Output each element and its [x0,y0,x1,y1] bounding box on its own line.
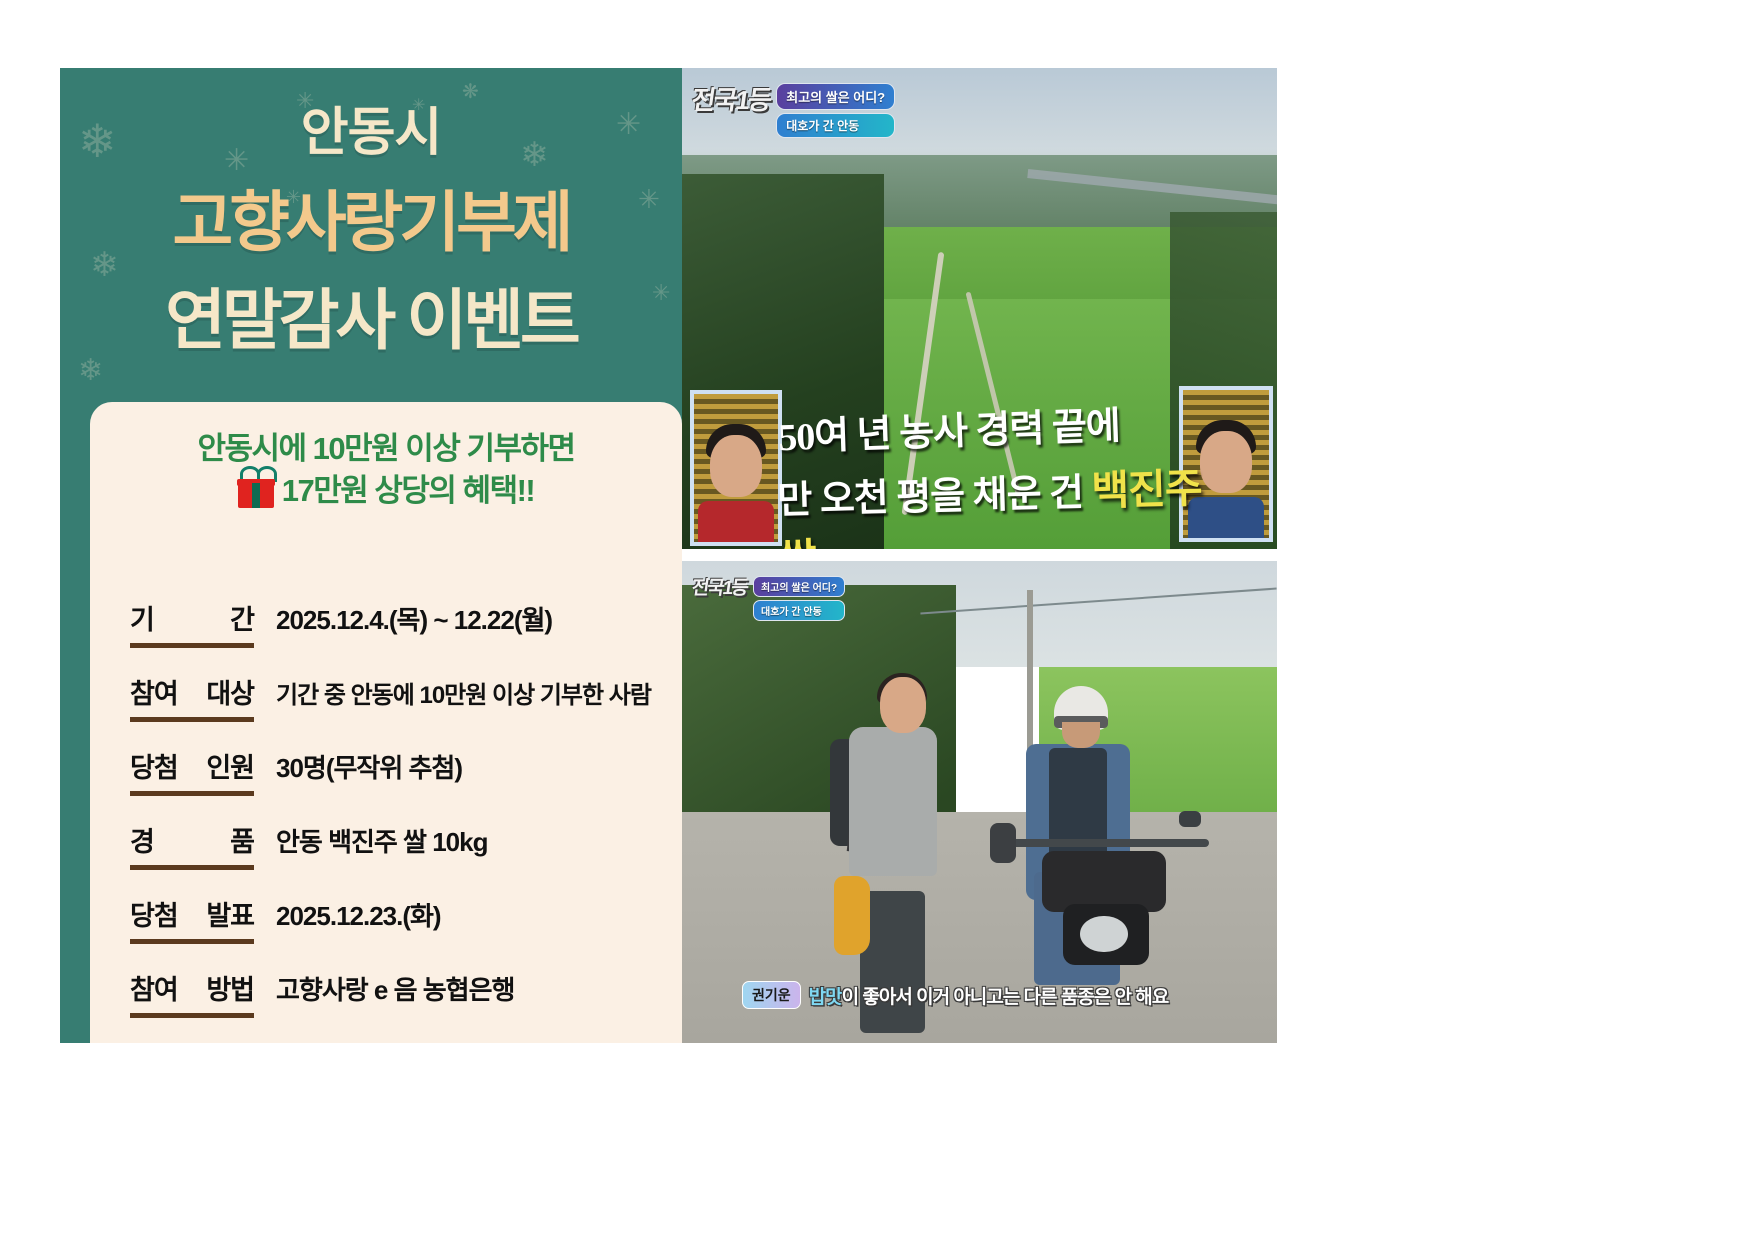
detail-label-part: 발표 [206,894,254,933]
detail-row-howto: 참여 방법 고향사랑 e 음 농협은행 [130,968,650,1014]
caption-line2: 만 오천 평을 채운 건 백진주 쌀 [777,453,1250,549]
show-logo-overlay: 전국1등 최고의 쌀은 어디? 대호가 간 안동 [692,80,895,138]
detail-label: 경 품 [130,820,254,870]
photo-caption-handwritten: 50여 년 농사 경력 끝에 만 오천 평을 채운 건 백진주 쌀 [778,398,1248,549]
detail-label: 기 간 [130,598,254,648]
female-guest-thumbnail [690,390,782,546]
speaker-name-badge: 권기운 [742,981,801,1009]
photo-interview-roadside: 전국1등 최고의 쌀은 어디? 대호가 간 안동 권기운 밥맛이 좋아서 이거 … [682,561,1277,1043]
detail-label: 당첨 발표 [130,894,254,944]
detail-value: 2025.12.23.(화) [276,896,441,933]
poster-detail-rows: 기 간 2025.12.4.(목) ~ 12.22(월) 참여 대상 기간 중 … [130,598,650,1042]
detail-label-part: 대상 [206,672,254,711]
detail-label: 당첨 인원 [130,746,254,796]
detail-row-announcement: 당첨 발표 2025.12.23.(화) [130,894,650,940]
detail-label-part: 간 [230,598,254,637]
detail-label-part: 기 [130,598,154,637]
detail-value: 기간 중 안동에 10만원 이상 기부한 사람 [276,675,651,710]
detail-value: 2025.12.4.(목) ~ 12.22(월) [276,600,552,637]
show-badge-primary: 최고의 쌀은 어디? [753,576,845,597]
gift-icon [238,474,274,508]
poster-title-line1: 안동시 [60,90,682,165]
subtitle-text: 밥맛이 좋아서 이거 아니고는 다른 품종은 안 해요 [809,982,1169,1009]
detail-row-eligibility: 참여 대상 기간 중 안동에 10만원 이상 기부한 사람 [130,672,650,718]
detail-row-winners: 당첨 인원 30명(무작위 추첨) [130,746,650,792]
detail-label-part: 참여 [130,672,178,711]
subtitle-highlight: 밥맛 [809,987,842,1008]
subtitle-rest: 이 좋아서 이거 아니고는 다른 품종은 안 해요 [842,987,1169,1008]
headline-line1: 안동시에 10만원 이상 기부하면 [90,428,682,470]
headline-line2-wrap: 17만원 상당의 혜택!! [90,470,682,512]
photo-subtitle: 권기운 밥맛이 좋아서 이거 아니고는 다른 품종은 안 해요 [742,981,1242,1009]
caption-line2-a: 만 오천 평을 채운 건 [777,472,1092,522]
detail-label-part: 인원 [206,746,254,785]
detail-label-part: 방법 [206,968,254,1007]
poster-title-line3: 연말감사 이벤트 [60,267,682,363]
detail-value: 안동 백진주 쌀 10kg [276,822,487,859]
detail-label-part: 품 [230,820,254,859]
show-badge-secondary: 대호가 간 안동 [776,113,895,138]
detail-row-prize: 경 품 안동 백진주 쌀 10kg [130,820,650,866]
detail-value: 고향사랑 e 음 농협은행 [276,970,514,1007]
detail-label: 참여 대상 [130,672,254,722]
detail-label-part: 경 [130,820,154,859]
detail-label-part: 당첨 [130,746,178,785]
caption-line1: 50여 년 농사 경력 끝에 [777,390,1249,461]
detail-label: 참여 방법 [130,968,254,1018]
show-badge-secondary: 대호가 간 안동 [753,600,845,621]
show-logo-mark: 전국1등 [689,80,772,117]
show-badge-primary: 최고의 쌀은 어디? [776,83,895,110]
show-badges: 최고의 쌀은 어디? 대호가 간 안동 [753,576,845,621]
show-badges: 최고의 쌀은 어디? 대호가 간 안동 [776,83,895,138]
poster-title-line2: 고향사랑기부제 [60,169,682,265]
poster-title: 안동시 고향사랑기부제 연말감사 이벤트 [60,90,682,363]
show-logo-overlay: 전국1등 최고의 쌀은 어디? 대호가 간 안동 [692,573,845,621]
detail-row-period: 기 간 2025.12.4.(목) ~ 12.22(월) [130,598,650,644]
person-host [837,677,956,1034]
detail-value: 30명(무작위 추첨) [276,748,462,785]
show-logo-mark: 전국1등 [690,573,749,600]
detail-label-part: 당첨 [130,894,178,933]
photo-rice-field: 전국1등 최고의 쌀은 어디? 대호가 간 안동 50여 년 농사 경력 끝에 … [682,68,1277,549]
poster-panel: ❄ ✳ ✳ ❋ ✳ ❄ ✳ ❄ ✳ ❄ ✳ ✳ 안동시 고향사랑기부제 연말감사… [60,68,682,1043]
poster-info-card: 안동시에 10만원 이상 기부하면 17만원 상당의 혜택!! 기 간 2025… [90,402,682,1043]
poster-headline: 안동시에 10만원 이상 기부하면 17만원 상당의 혜택!! [90,428,682,512]
headline-line2: 17만원 상당의 혜택!! [282,470,535,512]
detail-label-part: 참여 [130,968,178,1007]
